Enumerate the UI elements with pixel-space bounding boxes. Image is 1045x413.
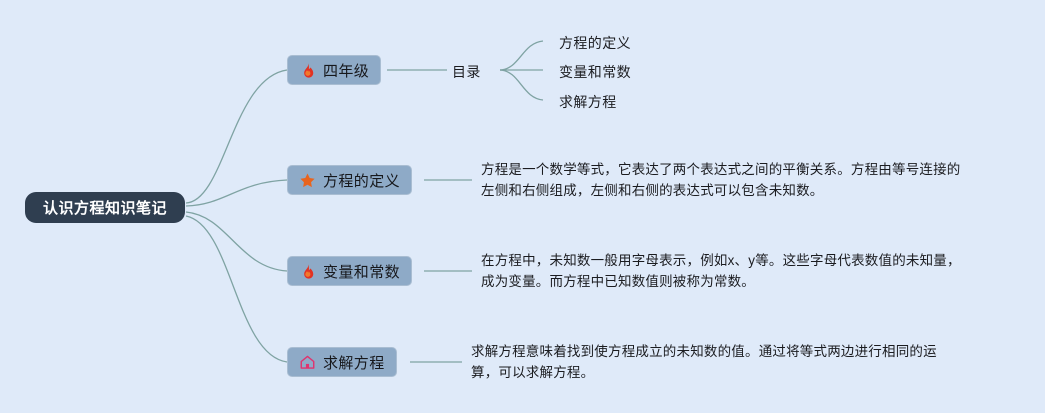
leaf-node-toc-0[interactable]: 方程的定义 xyxy=(559,33,631,53)
branch-node-definition-label: 方程的定义 xyxy=(323,170,400,191)
paragraph-variables: 在方程中，未知数一般用字母表示，例如x、y等。这些字母代表数值的未知量， 成为变… xyxy=(481,250,1001,292)
branch-node-variables-label: 变量和常数 xyxy=(323,261,400,282)
root-node[interactable]: 认识方程知识笔记 xyxy=(25,192,185,223)
paragraph-variables-line-1: 成为变量。而方程中已知数值则被称为常数。 xyxy=(481,271,1001,292)
leaf-node-toc-1-label: 变量和常数 xyxy=(559,64,631,80)
paragraph-definition-line-0: 方程是一个数学等式，它表达了两个表达式之间的平衡关系。方程由等号连接的 xyxy=(481,159,1001,180)
edge-toc-to-leaf-2 xyxy=(500,70,543,100)
paragraph-solving-line-1: 算，可以求解方程。 xyxy=(471,362,991,383)
edge-toc-to-leaf-0 xyxy=(500,41,543,70)
branch-node-solving-label: 求解方程 xyxy=(323,352,385,373)
branch-node-grade-label: 四年级 xyxy=(323,60,369,81)
paragraph-definition-line-1: 左侧和右侧组成，左侧和右侧的表达式可以包含未知数。 xyxy=(481,180,1001,201)
paragraph-definition: 方程是一个数学等式，它表达了两个表达式之间的平衡关系。方程由等号连接的 左侧和右… xyxy=(481,159,1001,201)
paragraph-variables-line-0: 在方程中，未知数一般用字母表示，例如x、y等。这些字母代表数值的未知量， xyxy=(481,250,1001,271)
branch-node-grade[interactable]: 四年级 xyxy=(287,55,381,85)
leaf-node-toc-2[interactable]: 求解方程 xyxy=(559,92,617,112)
house-icon xyxy=(299,354,316,371)
fire-icon xyxy=(299,62,316,79)
edge-root-to-grade xyxy=(186,70,287,203)
edge-root-to-solving xyxy=(186,216,287,362)
fire-icon xyxy=(299,263,316,280)
paragraph-solving: 求解方程意味着找到使方程成立的未知数的值。通过将等式两边进行相同的运 算，可以求… xyxy=(471,341,991,383)
mindmap-canvas: 认识方程知识笔记 四年级 目录 方程的定义 变量和常数 求解方程 方程的定义 方… xyxy=(0,0,1045,413)
node-toc[interactable]: 目录 xyxy=(452,62,481,82)
root-node-label: 认识方程知识笔记 xyxy=(43,197,167,218)
branch-node-variables[interactable]: 变量和常数 xyxy=(287,256,412,286)
leaf-node-toc-2-label: 求解方程 xyxy=(559,94,617,110)
star-icon xyxy=(299,172,316,189)
branch-node-solving[interactable]: 求解方程 xyxy=(287,347,397,377)
edge-root-to-variables xyxy=(186,212,287,271)
paragraph-solving-line-0: 求解方程意味着找到使方程成立的未知数的值。通过将等式两边进行相同的运 xyxy=(471,341,991,362)
leaf-node-toc-1[interactable]: 变量和常数 xyxy=(559,62,631,82)
leaf-node-toc-0-label: 方程的定义 xyxy=(559,35,631,51)
edge-root-to-definition xyxy=(186,180,287,206)
node-toc-label: 目录 xyxy=(452,64,481,80)
branch-node-definition[interactable]: 方程的定义 xyxy=(287,165,412,195)
